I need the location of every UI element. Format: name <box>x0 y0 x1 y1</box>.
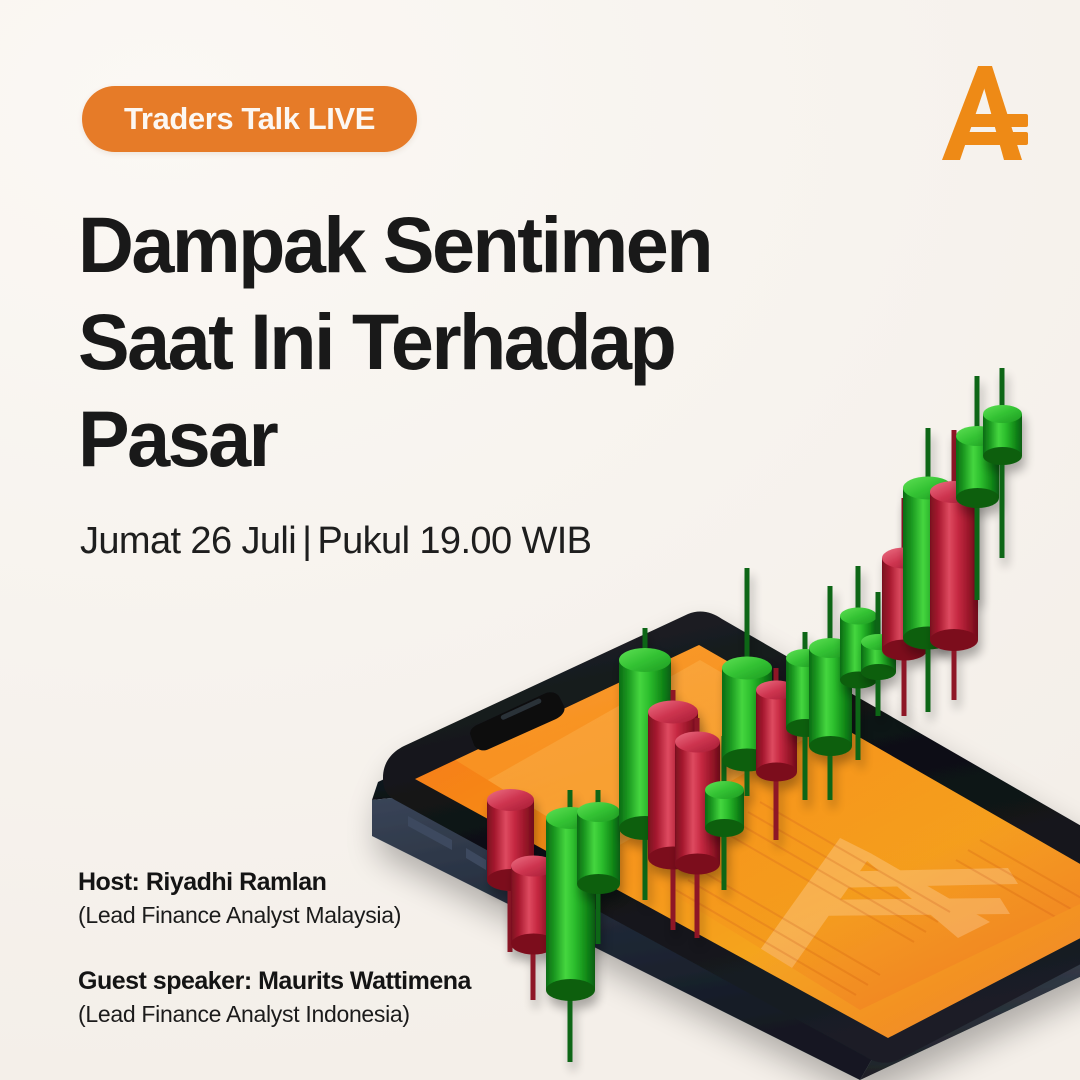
candle-bearish <box>487 789 534 952</box>
candle-bearish <box>648 690 698 930</box>
credit-host-name: Host: Riyadhi Ramlan <box>78 866 471 899</box>
speaker-credits: Host: Riyadhi Ramlan (Lead Finance Analy… <box>78 866 471 1030</box>
credit-guest-role: (Lead Finance Analyst Indonesia) <box>78 998 471 1030</box>
candle-bearish <box>756 668 797 840</box>
schedule-separator: | <box>296 520 317 562</box>
candle-bullish <box>809 586 852 800</box>
live-badge[interactable]: Traders Talk LIVE <box>82 86 417 152</box>
live-badge-label: Traders Talk LIVE <box>124 101 375 137</box>
logo-a-currency-icon <box>930 58 1050 168</box>
title-line-3: Pasar <box>78 390 803 487</box>
page-title: Dampak Sentimen Saat Ini Terhadap Pasar <box>78 196 818 487</box>
title-line-1: Dampak Sentimen <box>78 196 803 293</box>
screen-texture <box>676 802 1080 995</box>
credit-guest-name: Guest speaker: Maurits Wattimena <box>78 965 471 998</box>
candle-bullish <box>956 376 999 600</box>
screen-watermark-logo-icon <box>760 838 1018 968</box>
candle-bearish <box>930 430 978 700</box>
candle-bearish <box>511 856 556 1001</box>
credit-guest: Guest speaker: Maurits Wattimena (Lead F… <box>78 965 471 1030</box>
credit-host-role: (Lead Finance Analyst Malaysia) <box>78 899 471 931</box>
smartphone-icon <box>372 612 1080 1080</box>
candle-bullish <box>840 566 877 760</box>
credit-host: Host: Riyadhi Ramlan (Lead Finance Analy… <box>78 866 471 931</box>
candle-bullish <box>983 368 1022 558</box>
schedule-line: Jumat 26 Juli|Pukul 19.00 WIB <box>80 515 591 567</box>
volume-button[interactable] <box>408 816 452 850</box>
candle-bullish <box>903 428 953 712</box>
brand-logo <box>930 58 1050 168</box>
schedule-date: Jumat 26 Juli <box>80 520 296 562</box>
candle-bullish <box>619 628 671 900</box>
phone-notch-icon <box>470 692 565 750</box>
candle-bullish <box>786 632 825 800</box>
candle-bullish <box>722 568 772 796</box>
schedule-time: Pukul 19.00 WIB <box>317 520 591 562</box>
candle-bearish <box>675 718 720 938</box>
candle-bullish <box>546 790 595 1062</box>
poster-canvas: Traders Talk LIVE Dampak Sentimen Saat I… <box>0 0 1080 1080</box>
candle-bullish <box>861 592 896 716</box>
candle-bullish <box>705 736 744 890</box>
candle-bullish <box>577 790 620 944</box>
title-line-2: Saat Ini Terhadap <box>78 293 803 390</box>
candle-bearish <box>882 498 927 716</box>
